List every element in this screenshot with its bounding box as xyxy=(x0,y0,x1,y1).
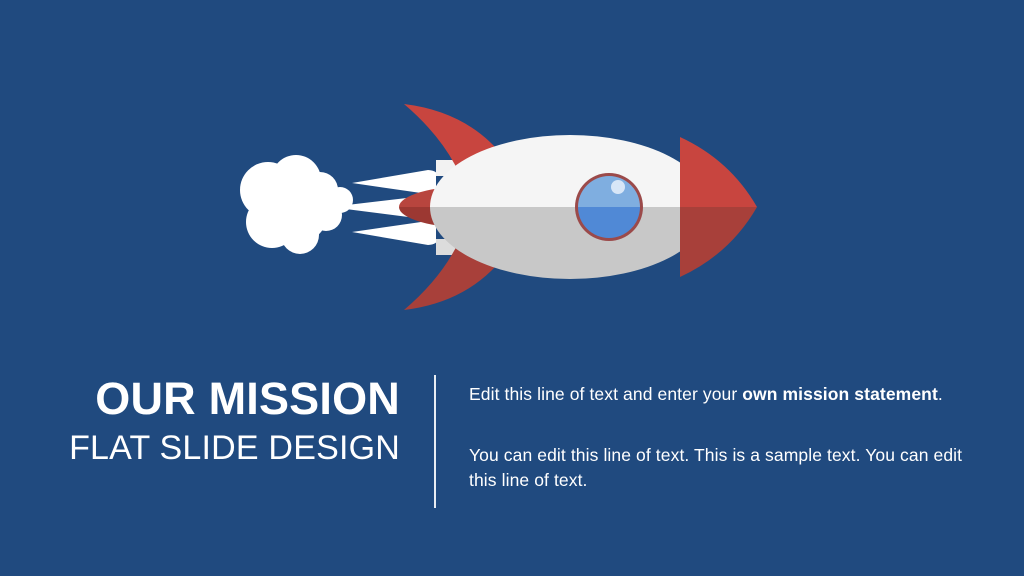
nose-cone xyxy=(680,137,757,277)
page-subtitle: FLAT SLIDE DESIGN xyxy=(0,431,400,467)
porthole-window xyxy=(575,173,643,241)
paragraph-1-emphasis: own mission statement xyxy=(742,384,938,404)
body-text-block: Edit this line of text and enter your ow… xyxy=(469,382,989,493)
paragraph-1-prefix: Edit this line of text and enter your xyxy=(469,384,742,404)
mission-paragraph-2: You can edit this line of text. This is … xyxy=(469,443,989,493)
exhaust-trail-lower xyxy=(352,221,438,245)
paragraph-1-suffix: . xyxy=(938,384,943,404)
window-highlight-icon xyxy=(611,180,625,194)
content-band: OUR MISSION FLAT SLIDE DESIGN Edit this … xyxy=(0,340,1024,576)
rocket-body xyxy=(430,135,710,279)
rocket-illustration xyxy=(0,0,1024,340)
exhaust-trail-upper xyxy=(352,170,438,194)
vertical-divider xyxy=(434,375,436,508)
heading-block: OUR MISSION FLAT SLIDE DESIGN xyxy=(0,376,400,467)
slide-canvas: OUR MISSION FLAT SLIDE DESIGN Edit this … xyxy=(0,0,1024,576)
page-title: OUR MISSION xyxy=(0,376,400,422)
mission-paragraph-1: Edit this line of text and enter your ow… xyxy=(469,382,989,407)
smoke-cloud xyxy=(240,155,353,254)
